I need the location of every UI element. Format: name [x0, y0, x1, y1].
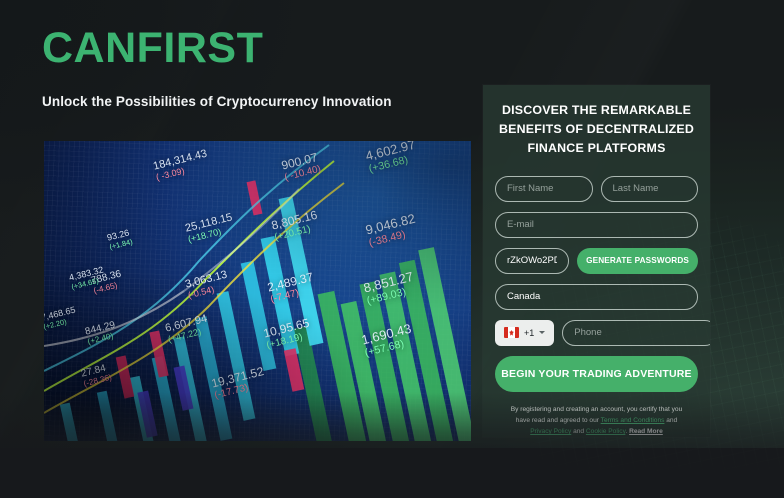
email-input[interactable] [495, 212, 698, 238]
country-code-select[interactable]: +1 [495, 320, 554, 346]
country-input[interactable] [495, 284, 698, 310]
begin-trading-button[interactable]: BEGIN YOUR TRADING ADVENTURE [495, 356, 698, 392]
canada-flag-icon [504, 327, 519, 338]
password-input[interactable] [495, 248, 569, 274]
dial-code-label: +1 [524, 328, 534, 338]
bottom-fade-overlay [0, 392, 784, 498]
email-row [495, 212, 698, 238]
name-row [495, 176, 698, 202]
signup-panel: DISCOVER THE REMARKABLE BENEFITS OF DECE… [483, 85, 710, 437]
first-name-input[interactable] [495, 176, 593, 202]
country-row [495, 284, 698, 310]
last-name-input[interactable] [601, 176, 699, 202]
landing-page: CANFIRST Unlock the Possibilities of Cry… [0, 0, 784, 498]
generate-passwords-button[interactable]: GENERATE PASSWORDS [577, 248, 698, 274]
maple-leaf-icon [509, 330, 514, 336]
signup-panel-title: DISCOVER THE REMARKABLE BENEFITS OF DECE… [495, 101, 698, 159]
hero-text-block: CANFIRST Unlock the Possibilities of Cry… [42, 26, 472, 109]
brand-title: CANFIRST [42, 26, 472, 71]
chevron-down-icon [539, 331, 545, 334]
hero-tagline: Unlock the Possibilities of Cryptocurren… [42, 71, 472, 109]
phone-input[interactable] [562, 320, 710, 346]
phone-row: +1 [495, 320, 698, 346]
password-row: GENERATE PASSWORDS [495, 248, 698, 274]
